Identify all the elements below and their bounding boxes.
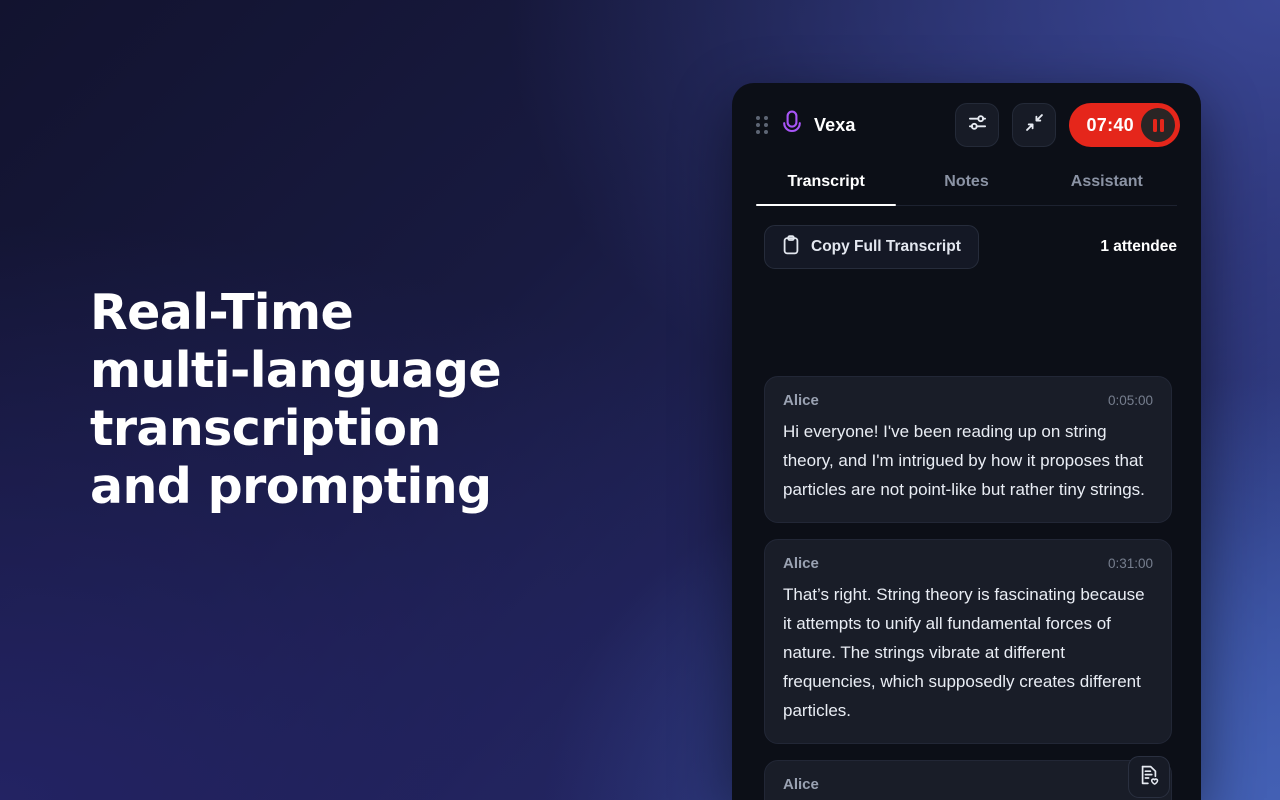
message-timestamp: 0:31:00 bbox=[1108, 556, 1153, 571]
recording-timer-button[interactable]: 07:40 bbox=[1069, 103, 1180, 147]
hero-line-3: transcription bbox=[90, 400, 650, 458]
document-heart-icon bbox=[1138, 764, 1160, 791]
page-root: Real-Time multi-language transcription a… bbox=[0, 0, 1280, 800]
tab-assistant[interactable]: Assistant bbox=[1037, 167, 1177, 205]
message-header: Alice 1 bbox=[783, 776, 1153, 793]
panel-tabs: Transcript Notes Assistant bbox=[756, 167, 1177, 206]
tab-transcript[interactable]: Transcript bbox=[756, 167, 896, 205]
message-speaker: Alice bbox=[783, 776, 819, 793]
pause-icon[interactable] bbox=[1141, 108, 1175, 142]
copy-full-transcript-label: Copy Full Transcript bbox=[811, 238, 961, 256]
transcript-toolbar: Copy Full Transcript 1 attendee bbox=[732, 206, 1201, 269]
hero-line-2: multi-language bbox=[90, 342, 650, 400]
tab-notes[interactable]: Notes bbox=[896, 167, 1036, 205]
table-row[interactable]: Alice 0:05:00 Hi everyone! I've been rea… bbox=[764, 376, 1172, 523]
clipboard-icon bbox=[782, 235, 800, 260]
collapse-arrows-icon bbox=[1024, 112, 1045, 138]
header-actions: 07:40 bbox=[955, 103, 1180, 147]
table-row[interactable]: Alice 1 bbox=[764, 760, 1172, 800]
message-speaker: Alice bbox=[783, 555, 819, 572]
brand-name: Vexa bbox=[814, 115, 855, 136]
attendee-count: 1 attendee bbox=[1100, 238, 1177, 256]
message-header: Alice 0:05:00 bbox=[783, 392, 1153, 409]
message-timestamp: 0:05:00 bbox=[1108, 393, 1153, 408]
save-note-button[interactable] bbox=[1128, 756, 1170, 798]
panel-header: Vexa bbox=[732, 83, 1201, 167]
minimize-button[interactable] bbox=[1012, 103, 1056, 147]
page-title: Real-Time multi-language transcription a… bbox=[90, 284, 650, 516]
vexa-app-panel: Vexa bbox=[732, 83, 1201, 800]
message-speaker: Alice bbox=[783, 392, 819, 409]
hero-section: Real-Time multi-language transcription a… bbox=[90, 284, 650, 516]
sliders-settings-icon bbox=[967, 112, 988, 138]
table-row[interactable]: Alice 0:31:00 That’s right. String theor… bbox=[764, 539, 1172, 744]
message-text: That’s right. String theory is fascinati… bbox=[783, 580, 1153, 725]
settings-button[interactable] bbox=[955, 103, 999, 147]
message-text: Hi everyone! I've been reading up on str… bbox=[783, 417, 1153, 504]
brand: Vexa bbox=[781, 110, 855, 141]
recording-elapsed: 07:40 bbox=[1086, 115, 1134, 136]
hero-line-1: Real-Time bbox=[90, 284, 650, 342]
microphone-icon bbox=[781, 110, 803, 141]
hero-line-4: and prompting bbox=[90, 458, 650, 516]
drag-dots-icon[interactable] bbox=[756, 116, 768, 134]
transcript-list[interactable]: Alice 0:05:00 Hi everyone! I've been rea… bbox=[732, 376, 1201, 800]
copy-full-transcript-button[interactable]: Copy Full Transcript bbox=[764, 225, 979, 269]
message-header: Alice 0:31:00 bbox=[783, 555, 1153, 572]
